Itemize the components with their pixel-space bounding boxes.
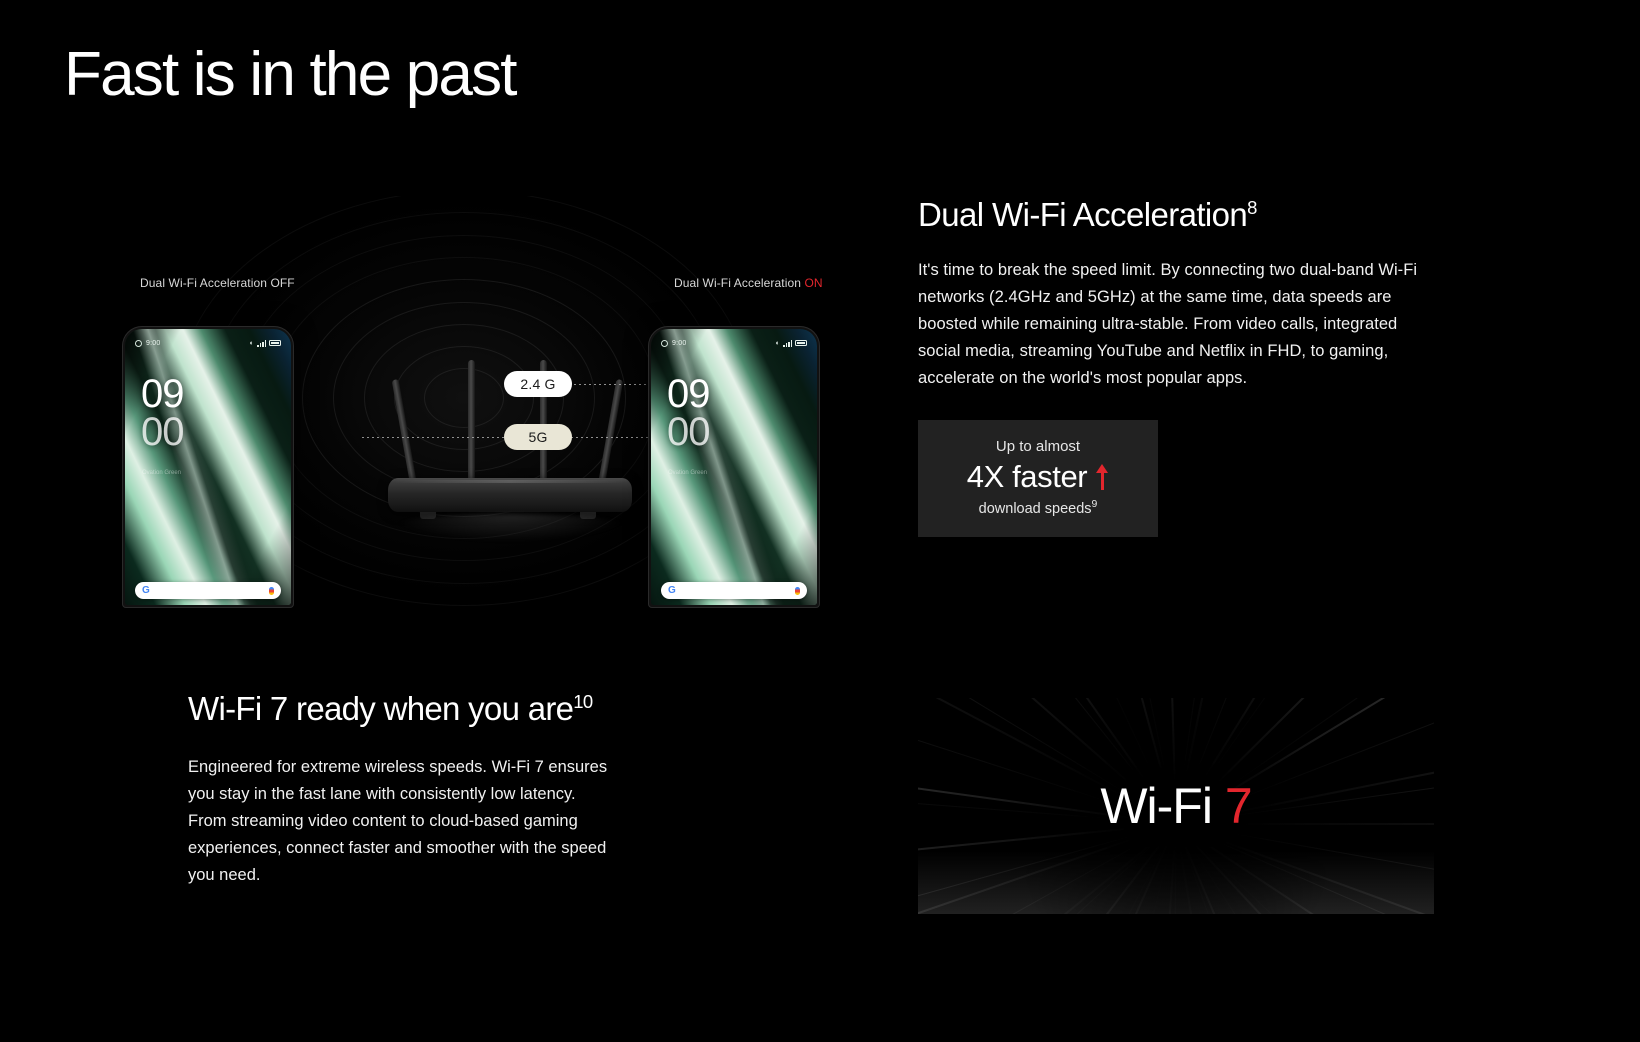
- label-acceleration-off: Dual Wi-Fi Acceleration OFF: [140, 276, 295, 290]
- wifi7-image: Wi-Fi 7: [918, 698, 1434, 914]
- status-bar-left: 9:00 ◐: [135, 337, 281, 349]
- wallpaper-left: [125, 329, 291, 605]
- label-acceleration-on-prefix: Dual Wi-Fi Acceleration: [674, 276, 804, 290]
- battery-icon: [269, 340, 281, 346]
- wallpaper-right: [651, 329, 817, 605]
- stat-card-bottom-label: download speeds9: [918, 501, 1158, 517]
- product-page: Fast is in the past Dual Wi-Fi Accelerat…: [0, 0, 1640, 1042]
- dual-wifi-body: It's time to break the speed limit. By c…: [918, 257, 1418, 392]
- phone-screen-left: 9:00 ◐ 09 00 Ovation Green G: [125, 329, 291, 605]
- clock-minutes-right: 00: [667, 413, 710, 451]
- arrow-up-icon: [1095, 462, 1109, 492]
- phone-screen-right: 9:00 ◐ 09 00 Ovation Green G: [651, 329, 817, 605]
- stat-card-value: 4X faster: [967, 459, 1087, 495]
- wifi7-heading: Wi-Fi 7 ready when you are10: [188, 690, 658, 728]
- signal-bars-icon: [257, 340, 266, 347]
- label-acceleration-on: Dual Wi-Fi Acceleration ON: [674, 276, 823, 290]
- wifi7-body: Engineered for extreme wireless speeds. …: [188, 754, 618, 889]
- wifi7-heading-text: Wi-Fi 7 ready when you are: [188, 690, 573, 727]
- camera-punchhole-icon: [661, 340, 668, 347]
- lockscreen-clock-left: 09 00: [141, 375, 184, 452]
- badge-2-4g: 2.4 G: [504, 371, 572, 397]
- status-bar-right: 9:00 ◐: [661, 337, 807, 349]
- camera-punchhole-icon: [135, 340, 142, 347]
- microphone-icon[interactable]: [269, 587, 274, 595]
- stat-card-top-label: Up to almost: [918, 438, 1158, 455]
- router-antenna: [392, 379, 417, 485]
- router-antenna: [598, 379, 623, 485]
- microphone-icon[interactable]: [795, 587, 800, 595]
- wifi7-section: Wi-Fi 7 ready when you are10 Engineered …: [188, 690, 658, 889]
- stat-card-download-speed: Up to almost 4X faster download speeds9: [918, 420, 1158, 537]
- dual-wifi-heading: Dual Wi-Fi Acceleration8: [918, 196, 1418, 235]
- wallpaper-caption-right: Ovation Green: [668, 469, 707, 478]
- signal-bars-icon: [783, 340, 792, 347]
- wifi7-image-label: Wi-Fi 7: [918, 777, 1434, 835]
- google-logo-icon: G: [142, 586, 150, 596]
- router-reflection: [388, 514, 632, 542]
- clock-minutes-left: 00: [141, 413, 184, 451]
- dual-wifi-section: Dual Wi-Fi Acceleration8 It's time to br…: [918, 196, 1418, 537]
- connector-line-5g-left: [362, 437, 504, 438]
- google-search-bar-right[interactable]: G: [661, 582, 807, 599]
- dual-wifi-comparison-image: Dual Wi-Fi Acceleration OFF Dual Wi-Fi A…: [64, 196, 864, 616]
- clock-hours-left: 09: [141, 375, 184, 413]
- footnote-marker-8: 8: [1247, 197, 1257, 218]
- label-acceleration-on-state: ON: [804, 276, 822, 290]
- wallpaper-caption-left: Ovation Green: [142, 469, 181, 478]
- footnote-marker-10: 10: [573, 691, 592, 712]
- google-search-bar-left[interactable]: G: [135, 582, 281, 599]
- badge-5g: 5G: [504, 424, 572, 450]
- lockscreen-clock-right: 09 00: [667, 375, 710, 452]
- status-time-left: 9:00: [146, 340, 160, 347]
- google-logo-icon: G: [668, 586, 676, 596]
- battery-icon: [795, 340, 807, 346]
- wifi-icon: ◐: [250, 340, 254, 347]
- phone-acceleration-off: 9:00 ◐ 09 00 Ovation Green G: [122, 326, 294, 608]
- phone-acceleration-on: 9:00 ◐ 09 00 Ovation Green G: [648, 326, 820, 608]
- tunnel-floor: [918, 840, 1434, 914]
- wifi7-label-prefix: Wi-Fi: [1100, 778, 1225, 834]
- clock-hours-right: 09: [667, 375, 710, 413]
- router-antenna: [468, 360, 475, 484]
- router-body: [388, 478, 632, 512]
- dual-wifi-heading-text: Dual Wi-Fi Acceleration: [918, 196, 1247, 233]
- stat-card-value-row: 4X faster: [918, 459, 1158, 495]
- stat-card-bottom-text: download speeds: [979, 501, 1092, 517]
- page-title: Fast is in the past: [64, 42, 516, 109]
- wifi-icon: ◐: [776, 340, 780, 347]
- footnote-marker-9: 9: [1092, 499, 1098, 510]
- status-time-right: 9:00: [672, 340, 686, 347]
- wifi7-label-number: 7: [1225, 778, 1252, 834]
